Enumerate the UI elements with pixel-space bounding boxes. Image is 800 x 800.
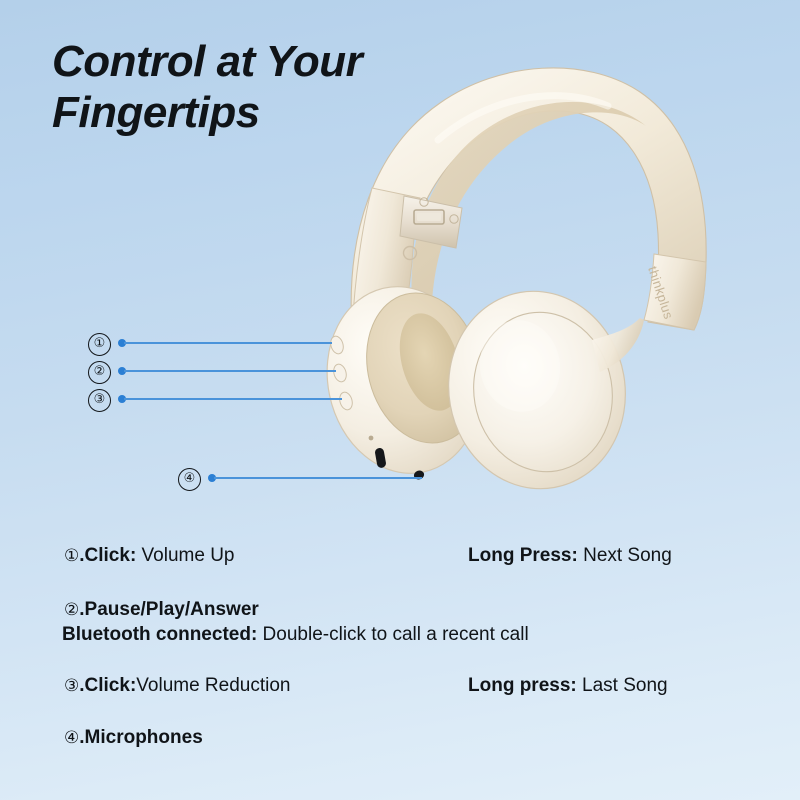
infographic-page: Control at Your Fingertips <box>0 0 800 800</box>
spec-list: ①.Click: Volume Up Long Press: Next Song… <box>0 0 800 800</box>
spec-2-number: ② <box>64 600 79 620</box>
spec-row-2: ②.Pause/Play/Answer <box>64 599 259 621</box>
spec-row-2-sub: Bluetooth connected: Double-click to cal… <box>62 624 529 646</box>
spec-1-right-value: Next Song <box>578 545 672 566</box>
spec-row-4: ④.Microphones <box>64 727 203 749</box>
spec-3-right-label: Long press: <box>468 675 577 696</box>
spec-3-value: Volume Reduction <box>136 675 290 696</box>
spec-1-value: Volume Up <box>136 545 234 566</box>
spec-1-number: ① <box>64 546 79 566</box>
spec-3-label: Click: <box>85 675 137 696</box>
spec-2-sub-value: Double-click to call a recent call <box>257 624 528 645</box>
spec-2-sub-label: Bluetooth connected: <box>62 624 257 645</box>
spec-3-number: ③ <box>64 676 79 696</box>
spec-3-right-value: Last Song <box>577 675 668 696</box>
spec-1-right-label: Long Press: <box>468 545 578 566</box>
spec-row-1: ①.Click: Volume Up <box>64 545 235 567</box>
spec-row-3: ③.Click:Volume Reduction <box>64 675 291 697</box>
spec-row-1-right: Long Press: Next Song <box>468 545 672 567</box>
spec-4-number: ④ <box>64 728 79 748</box>
spec-1-label: Click: <box>85 545 137 566</box>
spec-4-label: Microphones <box>85 727 203 748</box>
spec-row-3-right: Long press: Last Song <box>468 675 668 697</box>
spec-2-label: Pause/Play/Answer <box>85 599 259 620</box>
